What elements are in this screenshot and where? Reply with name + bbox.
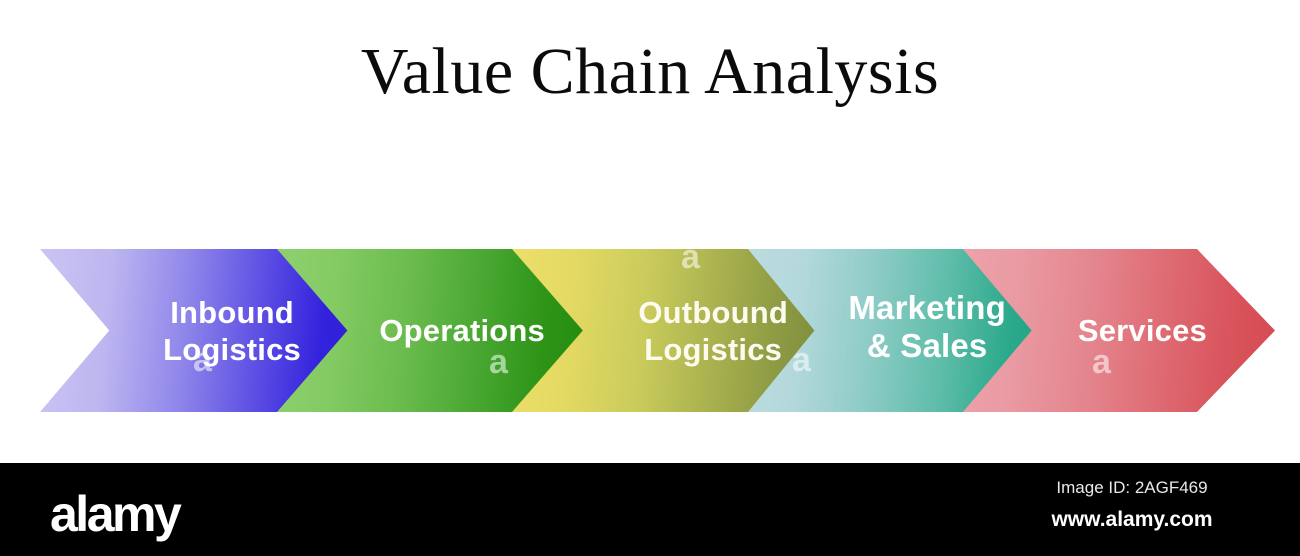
chain-stage-label: Outbound Logistics bbox=[638, 294, 804, 368]
chain-stage-label: Marketing & Sales bbox=[848, 289, 1022, 365]
chain-stage-label: Operations bbox=[379, 312, 563, 349]
footer-image-id: Image ID: 2AGF469 bbox=[1012, 478, 1252, 498]
footer-url: www.alamy.com bbox=[1012, 508, 1252, 532]
chain-stage-label: Inbound Logistics bbox=[163, 294, 323, 368]
value-chain-diagram: Inbound Logistics Operations Outbound Lo… bbox=[0, 0, 1300, 463]
chain-stage-label: Services bbox=[1078, 312, 1233, 349]
alamy-logo: alamy bbox=[50, 489, 179, 539]
